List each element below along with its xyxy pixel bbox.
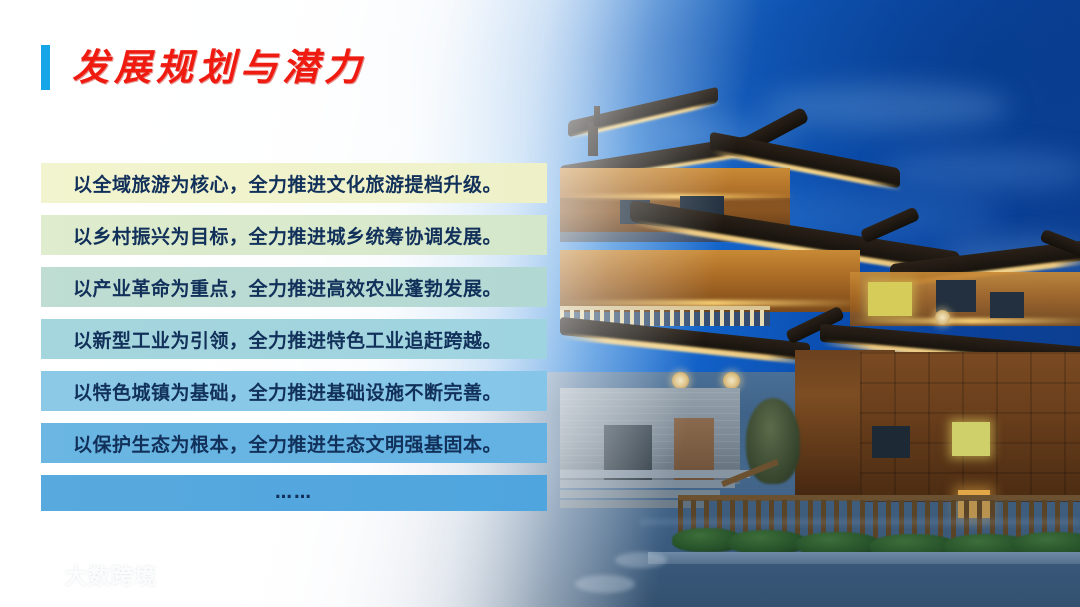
watermark: 大数跨境 [12,559,157,591]
list-item[interactable]: 以全域旅游为核心，全力推进文化旅游提档升级。 [41,163,547,203]
dashu-logo-icon [12,562,56,588]
list-item[interactable]: 以保护生态为根本，全力推进生态文明强基固本。 [41,423,547,463]
list-item-label: 以产业革命为重点，全力推进高效农业蓬勃发展。 [41,274,502,301]
list-item-label: 以保护生态为根本，全力推进生态文明强基固本。 [41,430,502,457]
list-item-label: 以特色城镇为基础，全力推进基础设施不断完善。 [41,378,502,405]
list-item[interactable]: 以新型工业为引领，全力推进特色工业追赶跨越。 [41,319,547,359]
bullet-list: 以全域旅游为核心，全力推进文化旅游提档升级。 以乡村振兴为目标，全力推进城乡统筹… [41,163,547,523]
title-accent-bar [41,45,50,90]
list-item-ellipsis[interactable]: …… [41,475,547,511]
page-title: 发展规划与潜力 [72,49,366,86]
slide-title-group: 发展规划与潜力 [41,45,366,90]
list-item-label: 以乡村振兴为目标，全力推进城乡统筹协调发展。 [41,222,502,249]
watermark-text: 大数跨境 [65,559,157,591]
list-item-label: 以新型工业为引领，全力推进特色工业追赶跨越。 [41,326,502,353]
list-item-label: 以全域旅游为核心，全力推进文化旅游提档升级。 [41,170,502,197]
list-item[interactable]: 以产业革命为重点，全力推进高效农业蓬勃发展。 [41,267,547,307]
list-item-label: …… [275,483,313,503]
list-item[interactable]: 以特色城镇为基础，全力推进基础设施不断完善。 [41,371,547,411]
slide-canvas: 发展规划与潜力 以全域旅游为核心，全力推进文化旅游提档升级。 以乡村振兴为目标，… [0,0,1080,607]
list-item[interactable]: 以乡村振兴为目标，全力推进城乡统筹协调发展。 [41,215,547,255]
